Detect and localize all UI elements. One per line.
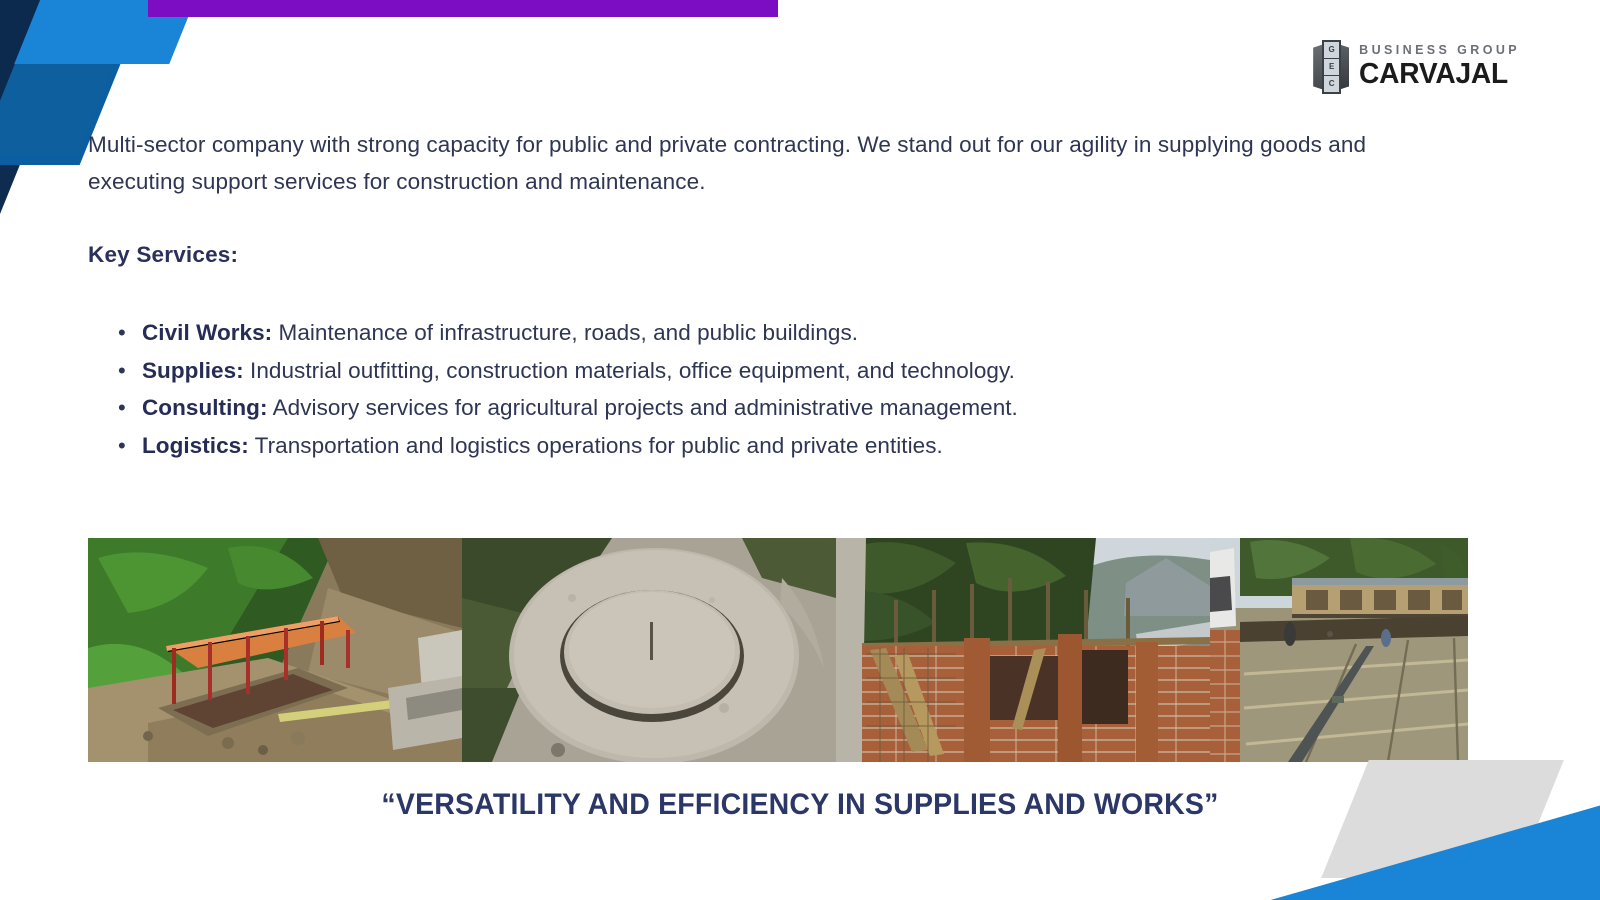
project-photo-2 (462, 538, 836, 762)
cube-letter-e: E (1324, 59, 1339, 76)
photo-drainage-canopy (88, 538, 462, 762)
purple-accent-bar (148, 0, 778, 17)
project-photo-strip (88, 538, 1468, 762)
cube-letter-c: C (1324, 76, 1339, 92)
list-item: Civil Works: Maintenance of infrastructu… (112, 314, 1472, 352)
service-label: Supplies: (142, 358, 244, 383)
cube-letter-g: G (1324, 42, 1339, 59)
project-photo-4 (1210, 538, 1468, 762)
list-item: Consulting: Advisory services for agricu… (112, 389, 1472, 427)
service-label: Civil Works: (142, 320, 272, 345)
key-services-heading: Key Services: (88, 242, 238, 268)
key-services-list: Civil Works: Maintenance of infrastructu… (112, 314, 1472, 464)
project-photo-3 (836, 538, 1210, 762)
project-photo-1 (88, 538, 462, 762)
logo-tagline: BUSINESS GROUP (1359, 44, 1520, 57)
service-text: Transportation and logistics operations … (255, 433, 943, 458)
gec-cube-icon: G E C (1313, 40, 1349, 94)
logo-company-name: CARVAJAL (1359, 60, 1508, 90)
cube-front-face: G E C (1322, 40, 1341, 94)
service-text: Industrial outfitting, construction mate… (250, 358, 1015, 383)
service-text: Maintenance of infrastructure, roads, an… (279, 320, 859, 345)
service-text: Advisory services for agricultural proje… (273, 395, 1018, 420)
photo-manhole-cover (462, 538, 836, 762)
list-item: Logistics: Transportation and logistics … (112, 427, 1472, 465)
company-logo: G E C BUSINESS GROUP CARVAJAL (1313, 40, 1520, 94)
photo-foundation-site (1210, 538, 1468, 762)
list-item: Supplies: Industrial outfitting, constru… (112, 352, 1472, 390)
logo-wordmark: BUSINESS GROUP CARVAJAL (1359, 44, 1520, 89)
service-label: Consulting: (142, 395, 268, 420)
photo-brick-construction (836, 538, 1210, 762)
slide-quote: “VERSATILITY AND EFFICIENCY IN SUPPLIES … (40, 788, 1560, 822)
intro-paragraph: Multi-sector company with strong capacit… (88, 126, 1428, 200)
service-label: Logistics: (142, 433, 249, 458)
slide-canvas: G E C BUSINESS GROUP CARVAJAL Multi-sect… (0, 0, 1600, 900)
